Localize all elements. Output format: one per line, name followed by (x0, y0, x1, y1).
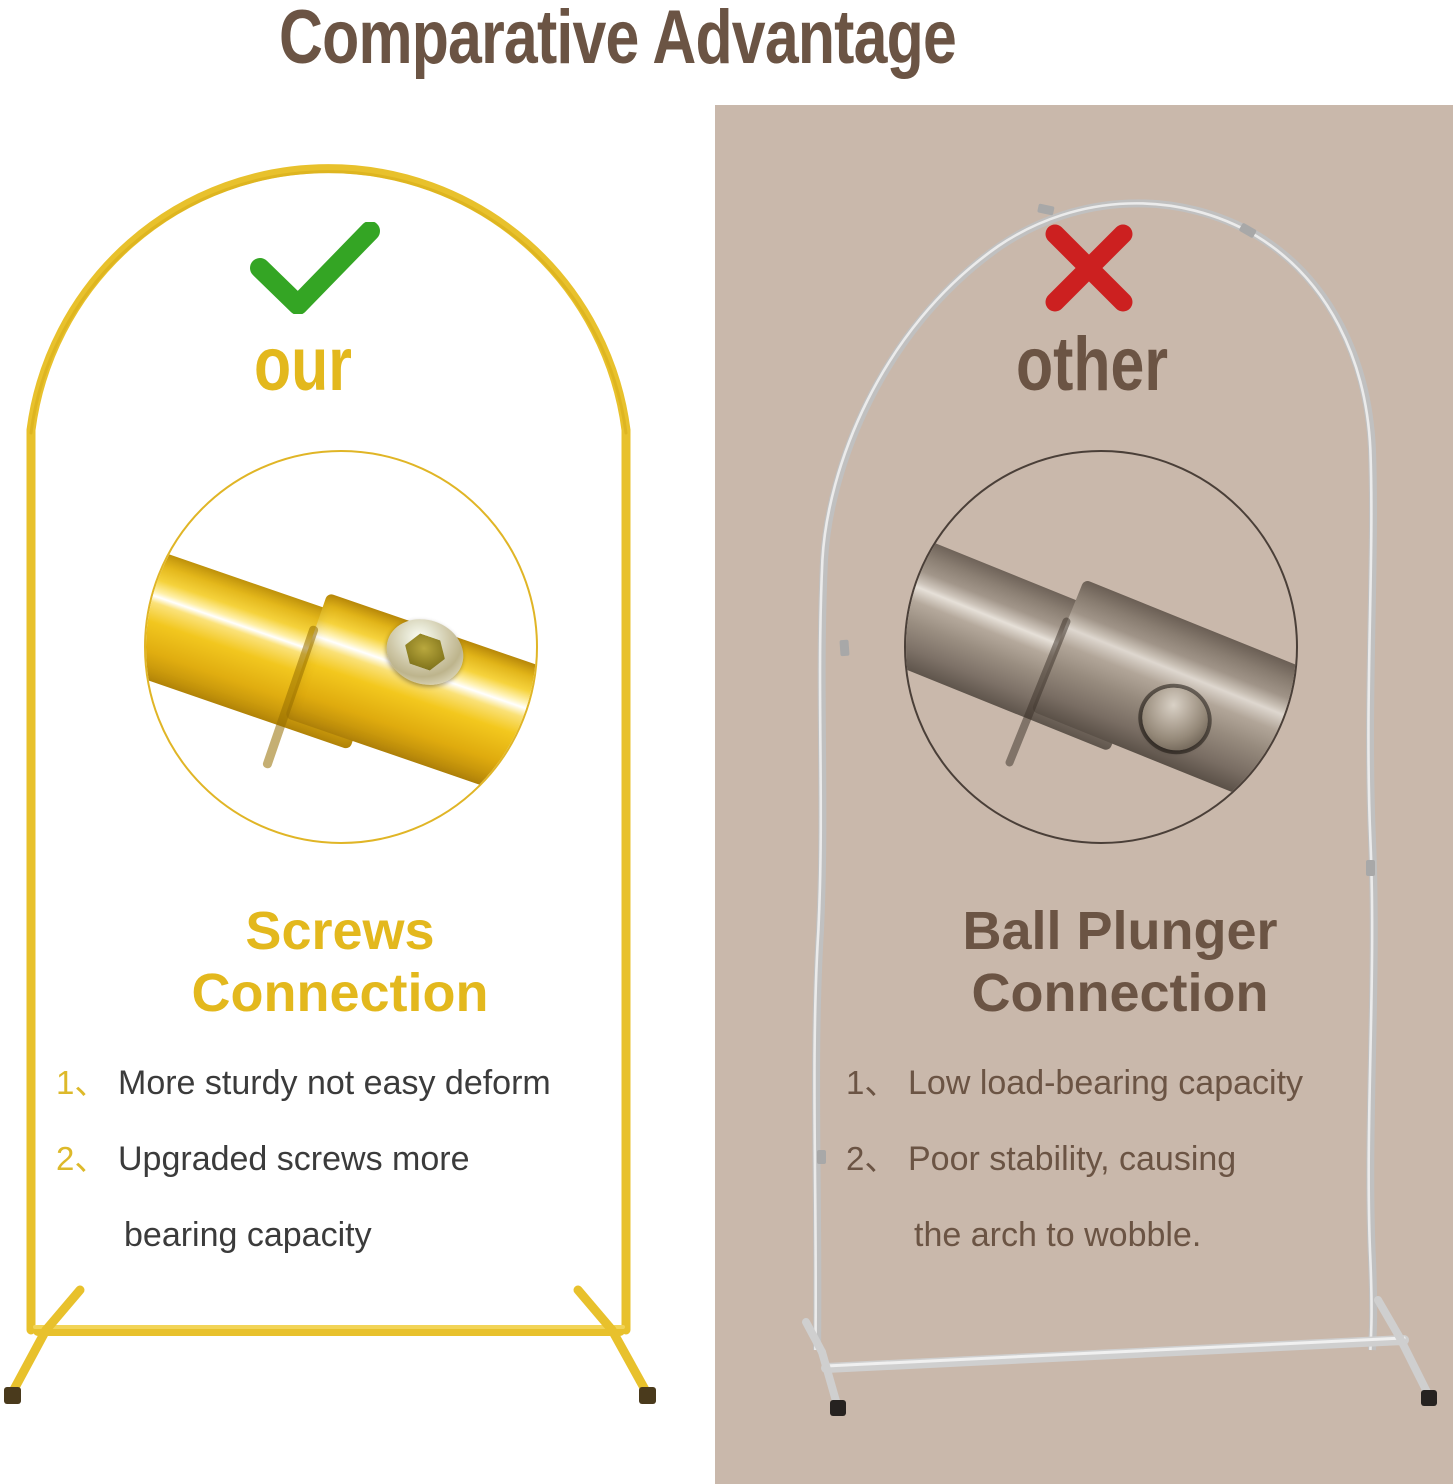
right-drawback-list: 1、 Low load-bearing capacity 2、 Poor sta… (846, 1060, 1453, 1270)
list-item: 1、 More sturdy not easy deform (56, 1060, 666, 1106)
list-item-text: Low load-bearing capacity (908, 1060, 1453, 1106)
infographic-stage: Comparative Advantage (0, 0, 1453, 1484)
ball-plunger-connection-detail-photo (904, 450, 1298, 844)
check-icon (250, 222, 380, 314)
list-item-continuation: bearing capacity (124, 1212, 666, 1258)
left-heading: Screws Connection (40, 900, 640, 1024)
list-item-number: 2、 (56, 1136, 118, 1182)
grey-pipe-photo (906, 452, 1296, 842)
hex-socket (400, 630, 450, 674)
list-item-number: 1、 (56, 1060, 118, 1106)
left-heading-line2: Connection (40, 962, 640, 1024)
our-label: our (254, 325, 352, 405)
list-item: 2、 Upgraded screws more (56, 1136, 666, 1182)
list-item-number: 2、 (846, 1136, 908, 1182)
screws-connection-detail-photo (144, 450, 538, 844)
page-title: Comparative Advantage (124, 0, 1112, 80)
yellow-pipe-photo (146, 452, 536, 842)
right-heading-line2: Connection (820, 962, 1420, 1024)
list-item-number: 1、 (846, 1060, 908, 1106)
list-item-continuation: the arch to wobble. (914, 1212, 1453, 1258)
cross-icon (1043, 222, 1135, 314)
other-label: other (1016, 325, 1168, 405)
right-heading-line1: Ball Plunger (820, 900, 1420, 962)
left-benefit-list: 1、 More sturdy not easy deform 2、 Upgrad… (56, 1060, 666, 1270)
list-item-text: Upgraded screws more (118, 1136, 666, 1182)
list-item: 1、 Low load-bearing capacity (846, 1060, 1453, 1106)
right-heading: Ball Plunger Connection (820, 900, 1420, 1024)
list-item: 2、 Poor stability, causing (846, 1136, 1453, 1182)
list-item-text: More sturdy not easy deform (118, 1060, 666, 1106)
list-item-text: Poor stability, causing (908, 1136, 1453, 1182)
left-heading-line1: Screws (40, 900, 640, 962)
